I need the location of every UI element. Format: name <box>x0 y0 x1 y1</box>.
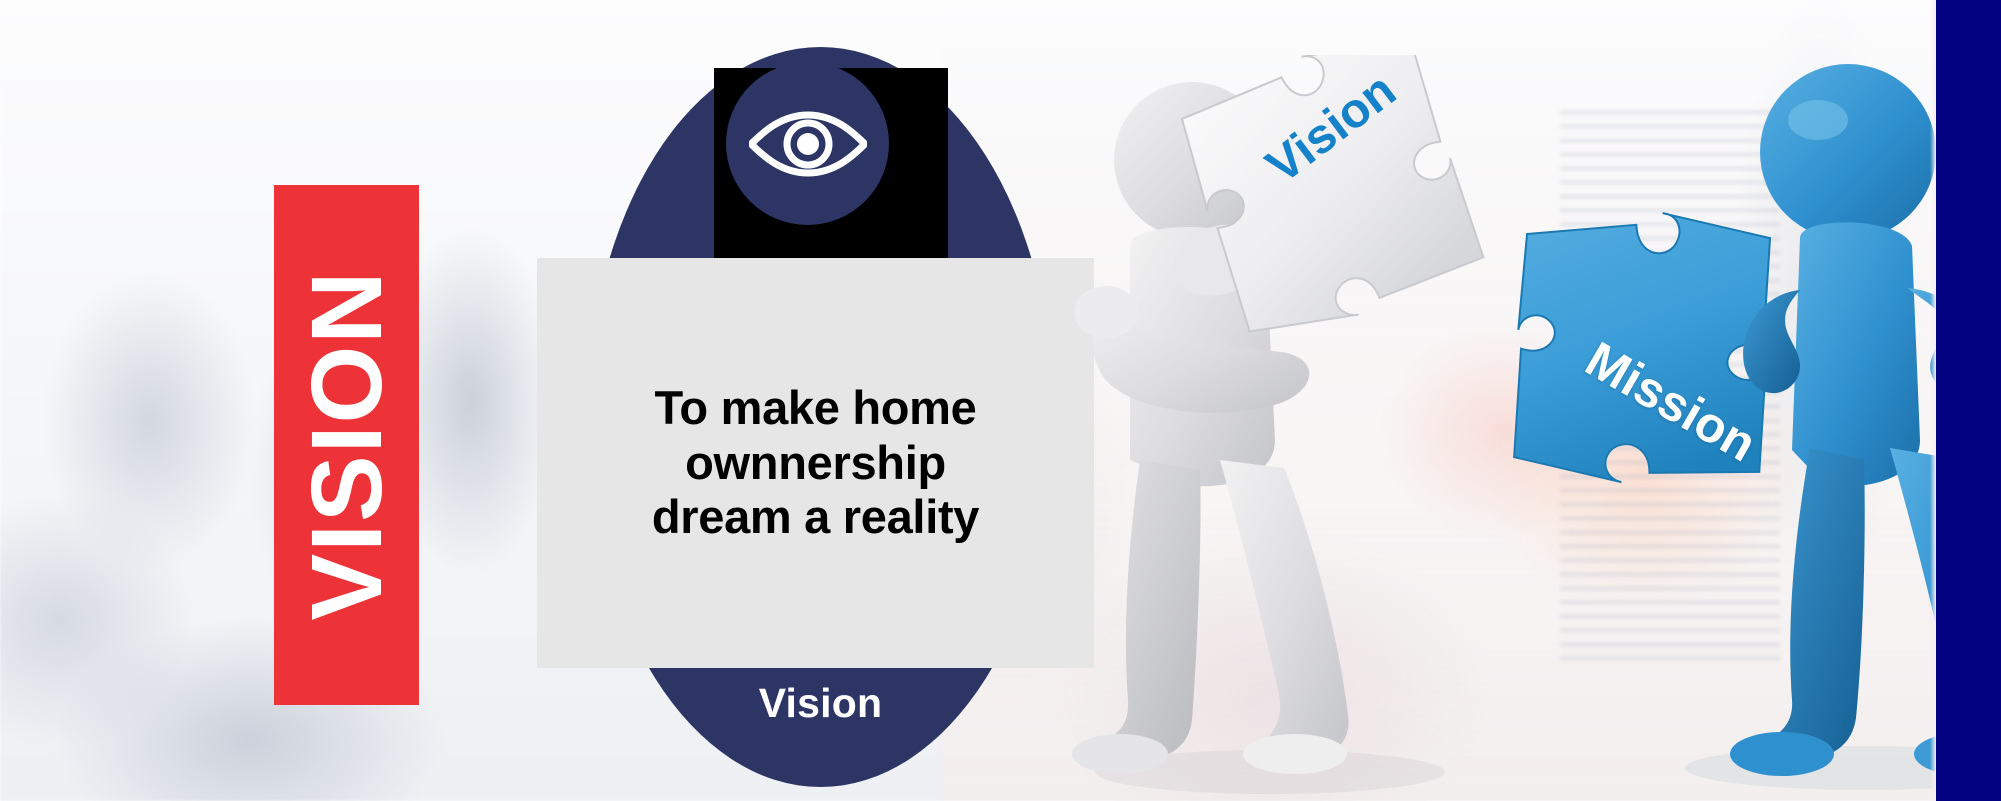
eye-badge <box>726 62 889 225</box>
vision-statement-text: To make home ownnership dream a reality <box>626 381 1005 546</box>
eye-icon <box>749 109 867 179</box>
vision-banner: VISION To make home ownnership dream a r… <box>0 0 2001 801</box>
vision-circle-label: Vision <box>587 680 1054 727</box>
vision-side-banner: VISION <box>274 185 419 705</box>
vision-statement-card: To make home ownnership dream a reality <box>537 258 1094 668</box>
right-navy-bar <box>1936 0 2001 801</box>
svg-text:.: . <box>1150 55 1154 59</box>
vision-side-banner-label: VISION <box>297 270 397 621</box>
vision-puzzle-piece: . <box>1150 55 1500 345</box>
